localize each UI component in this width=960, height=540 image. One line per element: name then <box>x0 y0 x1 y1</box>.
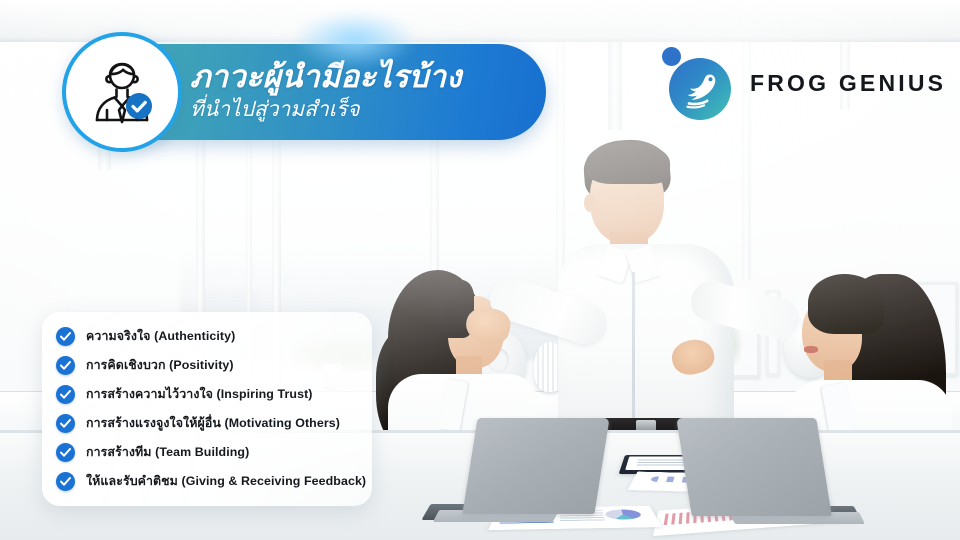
check-circle-icon <box>56 385 75 404</box>
list-item: การสร้างแรงจูงใจให้ผู้อื่น (Motivating O… <box>56 414 356 433</box>
list-item-label: การสร้างแรงจูงใจให้ผู้อื่น (Motivating O… <box>86 414 340 433</box>
check-circle-icon <box>56 443 75 462</box>
business-person-verified-icon <box>62 32 182 152</box>
page-title: ภาวะผู้นำมีอะไรบ้าง <box>190 61 520 94</box>
list-item: ให้และรับคำติชม (Giving & Receiving Feed… <box>56 472 356 491</box>
logo-gradient-circle <box>669 58 731 120</box>
leadership-traits-card: ความจริงใจ (Authenticity) การคิดเชิงบวก … <box>42 312 372 506</box>
list-item-label: ให้และรับคำติชม (Giving & Receiving Feed… <box>86 472 366 491</box>
check-circle-icon <box>56 356 75 375</box>
brand-logo[interactable]: FROG GENIUS <box>660 46 928 120</box>
brand-name: FROG GENIUS <box>750 70 946 97</box>
list-item-label: การสร้างทีม (Team Building) <box>86 443 249 462</box>
list-item: การสร้างความไว้วางใจ (Inspiring Trust) <box>56 385 356 404</box>
list-item-label: ความจริงใจ (Authenticity) <box>86 327 235 346</box>
check-circle-icon <box>56 472 75 491</box>
check-circle-icon <box>56 414 75 433</box>
list-item: ความจริงใจ (Authenticity) <box>56 327 356 346</box>
list-item-label: การคิดเชิงบวก (Positivity) <box>86 356 234 375</box>
check-circle-icon <box>56 327 75 346</box>
laptop <box>470 418 620 528</box>
page-subtitle: ที่นำไปสู่วามสำเร็จ <box>190 97 520 122</box>
list-item: การคิดเชิงบวก (Positivity) <box>56 356 356 375</box>
list-item-label: การสร้างความไว้วางใจ (Inspiring Trust) <box>86 385 313 404</box>
laptop <box>684 418 844 528</box>
poster-canvas: ภาวะผู้นำมีอะไรบ้าง ที่นำไปสู่วามสำเร็จ <box>0 0 960 540</box>
list-item: การสร้างทีม (Team Building) <box>56 443 356 462</box>
frog-logo-icon <box>660 46 734 120</box>
